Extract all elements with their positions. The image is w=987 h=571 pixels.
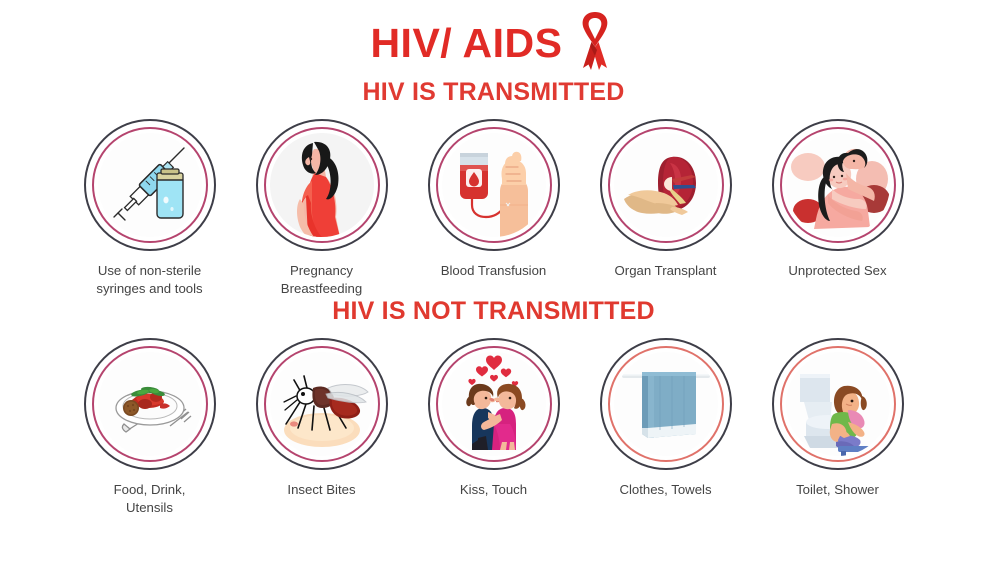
main-title-row: HIV/ AIDS: [0, 14, 987, 72]
list-item-label: Blood Transfusion: [441, 262, 547, 280]
list-item[interactable]: Organ Transplant: [593, 119, 738, 280]
list-item-label: Kiss, Touch: [460, 481, 527, 499]
list-item-label: Organ Transplant: [615, 262, 717, 280]
hanging-towel-icon: [614, 352, 718, 456]
list-item-label: Food, Drink, Utensils: [114, 481, 186, 516]
list-item[interactable]: Toilet, Shower: [765, 338, 910, 499]
child-on-toilet-icon: [786, 352, 890, 456]
icon-circle-insect-bites[interactable]: [256, 338, 388, 470]
list-item-label: Unprotected Sex: [788, 262, 886, 280]
header-block: HIV/ AIDS HIV IS TRANSMITTED: [0, 0, 987, 107]
list-item[interactable]: Food, Drink, Utensils: [77, 338, 222, 516]
list-item-label: Pregnancy Breastfeeding: [281, 262, 362, 297]
list-item[interactable]: Clothes, Towels: [593, 338, 738, 499]
page-title: HIV/ AIDS: [370, 23, 562, 64]
kissing-couple-icon: [442, 352, 546, 456]
icon-circle-food[interactable]: [84, 338, 216, 470]
embracing-couple-icon: [786, 133, 890, 237]
section-heading-transmitted: HIV IS TRANSMITTED: [0, 78, 987, 107]
list-item-label: Use of non-sterile syringes and tools: [96, 262, 202, 297]
pregnant-woman-icon: [270, 133, 374, 237]
list-item-label: Toilet, Shower: [796, 481, 879, 499]
list-item[interactable]: Unprotected Sex: [765, 119, 910, 280]
list-item[interactable]: Insect Bites: [249, 338, 394, 499]
icon-circle-blood-transfusion[interactable]: [428, 119, 560, 251]
list-item[interactable]: Use of non-sterile syringes and tools: [77, 119, 222, 297]
list-item[interactable]: Blood Transfusion: [421, 119, 566, 280]
aids-ribbon-icon: [573, 10, 617, 72]
icon-circle-unprotected-sex[interactable]: [772, 119, 904, 251]
plate-of-food-icon: [98, 352, 202, 456]
icon-circle-kiss-touch[interactable]: [428, 338, 560, 470]
hand-holding-kidney-icon: [614, 133, 718, 237]
icon-circle-pregnancy[interactable]: [256, 119, 388, 251]
icon-circle-clothes-towels[interactable]: [600, 338, 732, 470]
blood-bag-and-fist-icon: [442, 133, 546, 237]
not-transmitted-row: Food, Drink, Utensils: [0, 338, 987, 516]
mosquito-bite-icon: [270, 352, 374, 456]
list-item[interactable]: Pregnancy Breastfeeding: [249, 119, 394, 297]
section-heading-not-transmitted: HIV IS NOT TRANSMITTED: [0, 297, 987, 326]
icon-circle-organ-transplant[interactable]: [600, 119, 732, 251]
list-item[interactable]: Kiss, Touch: [421, 338, 566, 499]
list-item-label: Clothes, Towels: [619, 481, 711, 499]
syringe-and-vial-icon: [98, 133, 202, 237]
list-item-label: Insect Bites: [287, 481, 355, 499]
icon-circle-toilet-shower[interactable]: [772, 338, 904, 470]
icon-circle-syringe[interactable]: [84, 119, 216, 251]
transmitted-row: Use of non-sterile syringes and tools: [0, 119, 987, 297]
